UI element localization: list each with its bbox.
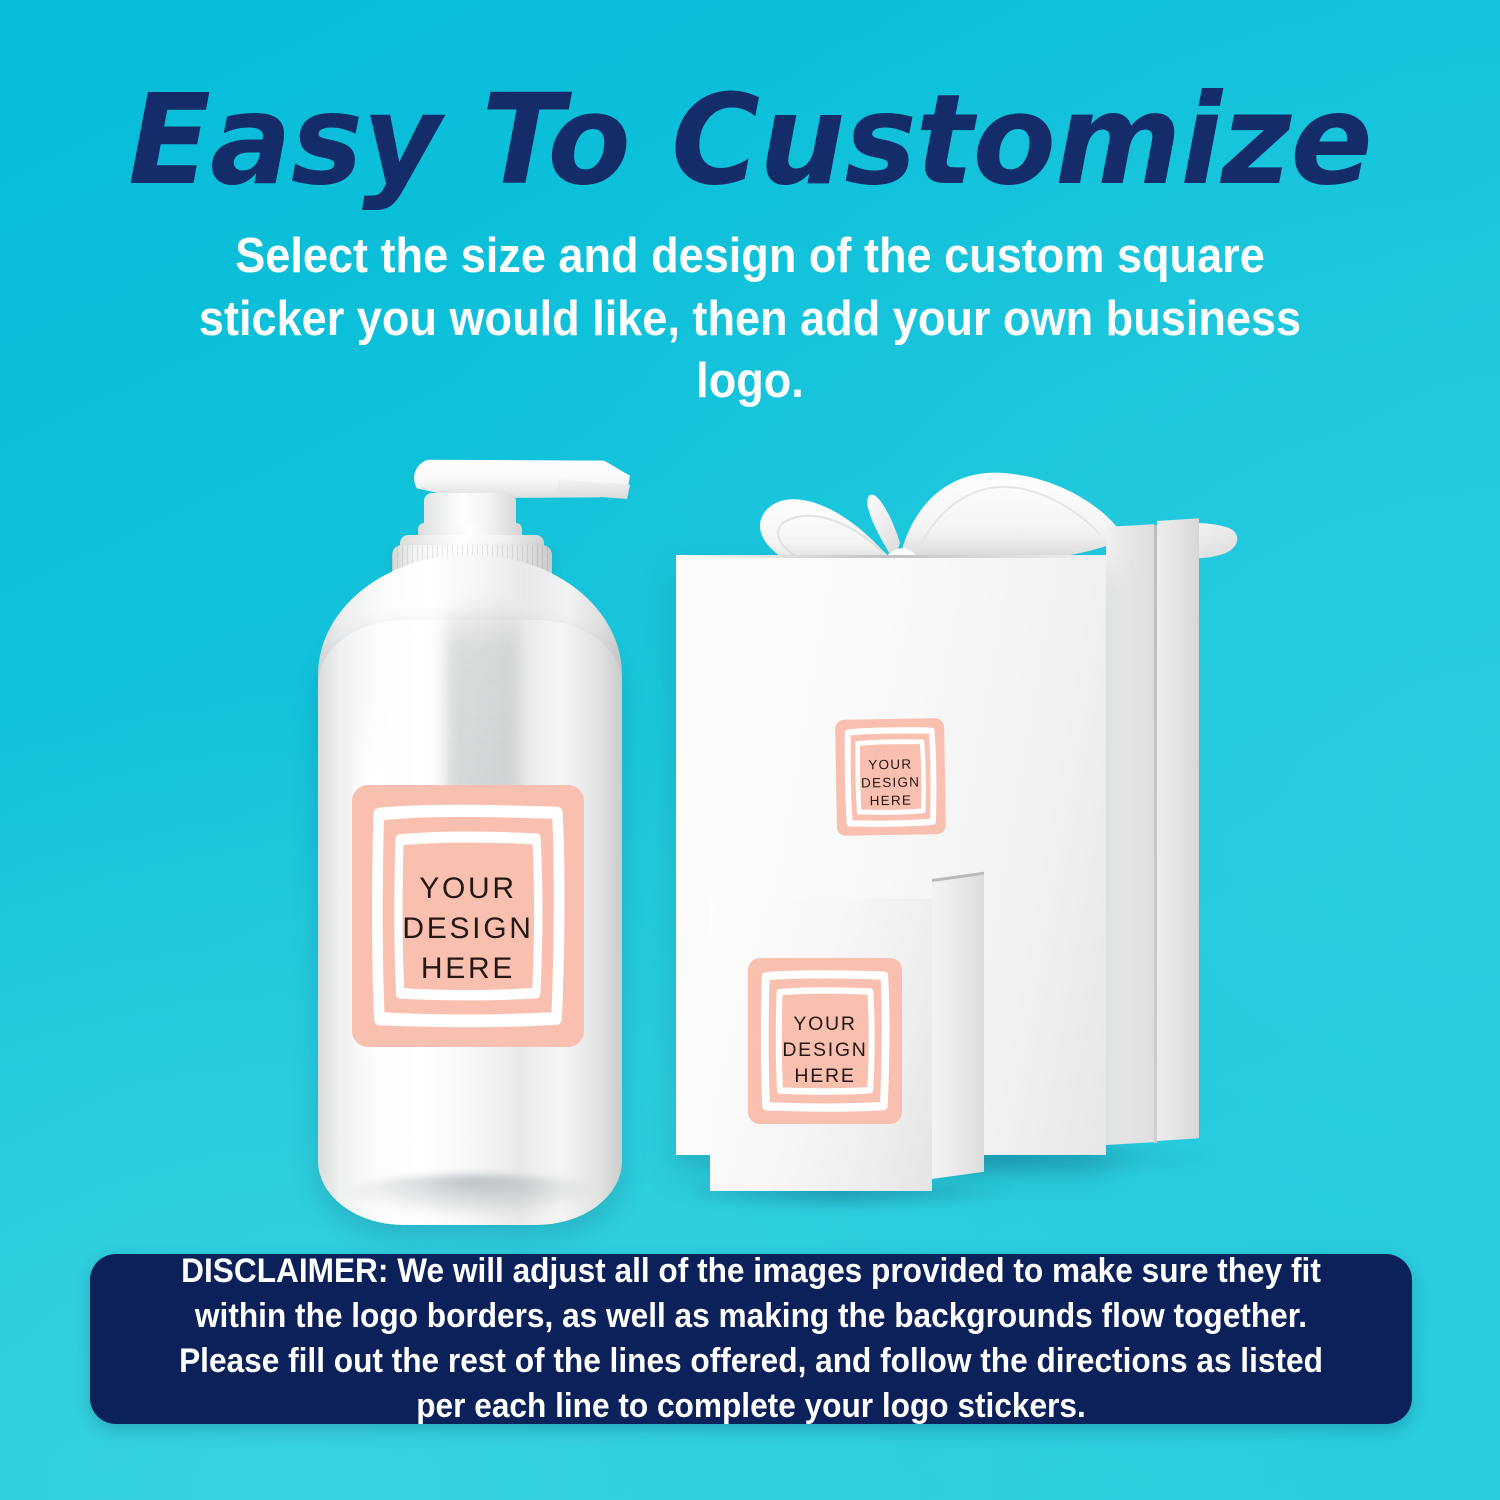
sticker-on-bottle: YOUR DESIGN HERE (352, 785, 584, 1047)
disclaimer-text: DISCLAIMER: We will adjust all of the im… (136, 1249, 1365, 1430)
disclaimer-prefix: DISCLAIMER: (181, 1252, 388, 1290)
sticker-on-carton: YOUR DESIGN HERE (748, 958, 902, 1124)
carton-side-panel (932, 872, 984, 1179)
sticker-label: YOUR DESIGN HERE (352, 869, 584, 989)
page-subtitle: Select the size and design of the custom… (60, 225, 1440, 413)
sticker-label: YOUR DESIGN HERE (748, 1012, 902, 1090)
promo-banner: Easy To Customize Select the size and de… (0, 0, 1500, 1500)
sticker-label: YOUR DESIGN HERE (836, 755, 946, 811)
sticker-on-gift-box: YOUR DESIGN HERE (835, 718, 946, 836)
gift-box-seam (1154, 525, 1157, 1143)
gift-box-lid-line (676, 555, 1106, 558)
disclaimer-banner: DISCLAIMER: We will adjust all of the im… (90, 1254, 1412, 1424)
header: Easy To Customize Select the size and de… (0, 0, 1500, 413)
page-title: Easy To Customize (23, 78, 1478, 203)
gift-box-side-panel-near (1106, 524, 1154, 1145)
gift-box-side-panel-far (1157, 518, 1199, 1141)
bottle-base-shadow (336, 1175, 606, 1219)
